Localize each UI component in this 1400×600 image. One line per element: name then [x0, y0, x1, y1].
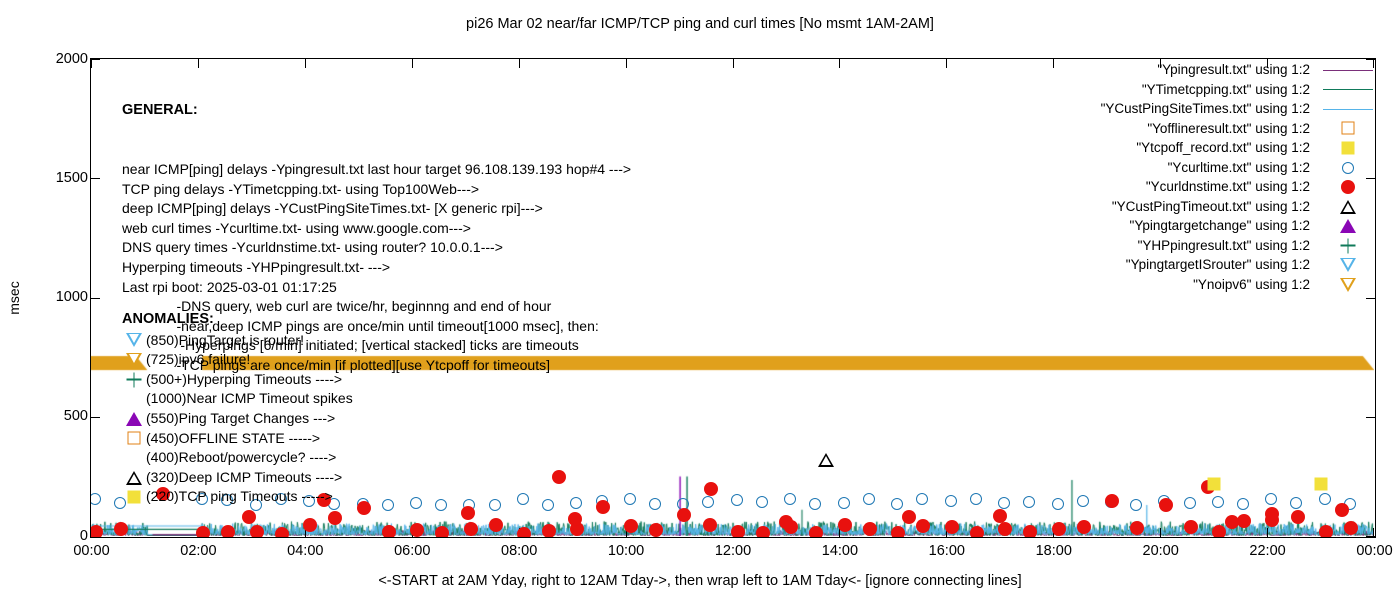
square-filled-marker-icon [1342, 141, 1355, 154]
circle-filled-marker-icon [221, 525, 235, 538]
legend-label: "Ycurldnstime.txt" using 1:2 [1146, 177, 1320, 197]
circle-open-marker-icon [1237, 498, 1249, 510]
square-open-marker-icon [1342, 122, 1355, 135]
circle-open-marker-icon [970, 493, 982, 505]
circle-open-marker-icon [731, 494, 743, 506]
circle-open-marker-icon [517, 493, 529, 505]
legend-label: "YTimetcpping.txt" using 1:2 [1142, 80, 1320, 100]
circle-filled-marker-icon [242, 510, 256, 524]
circle-open-marker-icon [1052, 498, 1064, 510]
circle-open-marker-icon [624, 493, 636, 505]
x-tick-label: 08:00 [501, 543, 537, 559]
y-tick-mark [91, 417, 100, 418]
x-tick-label: 22:00 [1249, 543, 1285, 559]
anomalies-annotation-block: ANOMALIES: (850)PingTarget is router!(72… [122, 310, 353, 507]
circle-filled-marker-icon [461, 506, 475, 520]
anomaly-marker [122, 370, 146, 390]
anomaly-marker [122, 350, 146, 370]
circle-filled-marker-icon [1105, 494, 1119, 508]
x-tick-label: 14:00 [822, 543, 858, 559]
legend-row: "Ynoipv6" using 1:2 [1101, 275, 1376, 295]
legend-key [1320, 275, 1376, 295]
circle-filled-marker-icon [1335, 503, 1349, 517]
legend-row: "YpingtargetISrouter" using 1:2 [1101, 255, 1376, 275]
circle-filled-marker-icon [275, 527, 289, 538]
y-tick-mark [91, 298, 100, 299]
anomaly-row: (400)Reboot/powercycle? ----> [122, 448, 353, 468]
x-tick-label: 00:00 [1356, 543, 1392, 559]
legend-label: "YCustPingSiteTimes.txt" using 1:2 [1101, 99, 1320, 119]
circle-filled-marker-icon [945, 520, 959, 534]
anomaly-label: (725)ipv6 failure! [146, 350, 250, 370]
legend-row: "YCustPingSiteTimes.txt" using 1:2 [1101, 99, 1376, 119]
anomaly-row: (725)ipv6 failure! [122, 350, 353, 370]
general-heading: GENERAL: [122, 101, 631, 121]
legend-row: "Yofflineresult.txt" using 1:2 [1101, 119, 1376, 139]
circle-filled-marker-icon [624, 519, 638, 533]
legend-key [1320, 80, 1376, 100]
circle-filled-marker-icon [382, 525, 396, 538]
triangle-up-open-marker-icon [818, 453, 834, 467]
anomaly-label: (400)Reboot/powercycle? ----> [146, 448, 336, 468]
general-line: Hyperping timeouts -YHPpingresult.txt- -… [122, 258, 631, 278]
legend-key [1320, 60, 1376, 80]
circle-filled-marker-icon [1265, 507, 1279, 521]
legend-label: "Yofflineresult.txt" using 1:2 [1147, 119, 1320, 139]
anomaly-row: (450)OFFLINE STATE -----> [122, 429, 353, 449]
y-tick-mark [1366, 417, 1375, 418]
circle-filled-marker-icon [998, 522, 1012, 536]
x-tick-label: 18:00 [1036, 543, 1072, 559]
anomaly-row: (550)Ping Target Changes ---> [122, 409, 353, 429]
x-tick-label: 02:00 [180, 543, 216, 559]
circle-filled-marker-icon [596, 500, 610, 514]
x-tick-mark [1373, 528, 1374, 537]
legend-key [1320, 197, 1376, 217]
y-tick-label: 2000 [0, 51, 88, 67]
circle-filled-marker-icon [1212, 525, 1226, 538]
legend-line-swatch [1323, 89, 1373, 90]
circle-filled-marker-icon [357, 501, 371, 515]
circle-open-marker-icon [1184, 497, 1196, 509]
circle-open-marker-icon [542, 499, 554, 511]
circle-open-marker-icon [891, 498, 903, 510]
anomaly-row: (220)TCP ping Timeouts -----> [122, 487, 353, 507]
anomaly-row: (500+)Hyperping Timeouts ----> [122, 370, 353, 390]
y-tick-mark [1366, 298, 1375, 299]
legend-row: "YTimetcpping.txt" using 1:2 [1101, 80, 1376, 100]
triangle-up-filled-marker-icon [1340, 219, 1356, 233]
circle-open-marker-icon [1212, 496, 1224, 508]
x-tick-label: 16:00 [929, 543, 965, 559]
circle-open-marker-icon [838, 497, 850, 509]
circle-open-marker-icon [756, 496, 768, 508]
legend-row: "Ypingtargetchange" using 1:2 [1101, 216, 1376, 236]
circle-filled-marker-icon [731, 525, 745, 538]
legend-key [1320, 255, 1376, 275]
circle-filled-marker-icon [1052, 522, 1066, 536]
legend-label: "Ynoipv6" using 1:2 [1193, 275, 1320, 295]
legend-label: "YHPpingresult.txt" using 1:2 [1138, 236, 1320, 256]
circle-open-marker-icon [945, 495, 957, 507]
legend-row: "Ycurltime.txt" using 1:2 [1101, 158, 1376, 178]
y-tick-mark [91, 178, 100, 179]
anomaly-label: (1000)Near ICMP Timeout spikes [146, 389, 353, 409]
legend-label: "Ypingresult.txt" using 1:2 [1157, 60, 1320, 80]
circle-open-marker-icon [784, 493, 796, 505]
legend-key [1320, 138, 1376, 158]
general-line: deep ICMP[ping] delays -YCustPingSiteTim… [122, 199, 631, 219]
general-line: web curl times -Ycurltime.txt- using www… [122, 219, 631, 239]
circle-filled-marker-icon [1130, 521, 1144, 535]
anomaly-label: (450)OFFLINE STATE -----> [146, 429, 320, 449]
x-tick-label: 04:00 [287, 543, 323, 559]
anomaly-marker [122, 468, 146, 488]
x-tick-label: 20:00 [1143, 543, 1179, 559]
x-tick-mark [946, 59, 947, 68]
legend-key [1320, 177, 1376, 197]
circle-filled-marker-icon [517, 527, 531, 538]
anomaly-marker [122, 487, 146, 507]
legend-label: "YpingtargetISrouter" using 1:2 [1126, 255, 1320, 275]
circle-filled-marker-icon [703, 518, 717, 532]
anomalies-heading: ANOMALIES: [122, 310, 353, 330]
y-tick-label: 500 [0, 408, 88, 424]
circle-filled-marker-icon [649, 523, 663, 537]
circle-filled-marker-icon [435, 526, 449, 538]
circle-filled-marker-icon [902, 510, 916, 524]
anomaly-label: (550)Ping Target Changes ---> [146, 409, 335, 429]
x-axis-caption: <-START at 2AM Yday, right to 12AM Tday-… [0, 573, 1400, 589]
circle-filled-marker-icon [542, 524, 556, 538]
circle-filled-marker-icon [756, 526, 770, 538]
x-tick-mark [733, 59, 734, 68]
circle-open-marker-icon [435, 499, 447, 511]
circle-filled-marker-icon [489, 518, 503, 532]
anomaly-marker [122, 448, 146, 468]
circle-open-marker-icon [863, 493, 875, 505]
anomaly-row: (1000)Near ICMP Timeout spikes [122, 389, 353, 409]
circle-filled-marker-icon [1319, 525, 1333, 538]
circle-open-marker-icon [1342, 162, 1354, 174]
square-open-marker-icon [128, 432, 141, 445]
circle-open-marker-icon [1077, 495, 1089, 507]
anomaly-marker [122, 409, 146, 429]
legend-line-swatch [1323, 109, 1373, 110]
circle-filled-marker-icon [1225, 515, 1239, 529]
circle-filled-marker-icon [1023, 525, 1037, 538]
y-tick-label: 0 [0, 528, 88, 544]
circle-open-marker-icon [702, 496, 714, 508]
circle-open-marker-icon [998, 497, 1010, 509]
circle-filled-marker-icon [1077, 520, 1091, 534]
circle-filled-marker-icon [863, 522, 877, 536]
circle-filled-marker-icon [916, 519, 930, 533]
circle-filled-marker-icon [328, 511, 342, 525]
plus-marker-icon [127, 372, 142, 387]
circle-filled-marker-icon [891, 526, 905, 538]
triangle-down-filled-marker-icon [126, 353, 142, 367]
legend-row: "Ytcpoff_record.txt" using 1:2 [1101, 138, 1376, 158]
circle-filled-marker-icon [970, 526, 984, 538]
x-tick-mark [1053, 59, 1054, 68]
circle-filled-marker-icon [677, 508, 691, 522]
x-tick-mark [1160, 528, 1161, 537]
x-tick-label: 10:00 [608, 543, 644, 559]
legend-line-swatch [1323, 70, 1373, 71]
anomaly-marker [122, 389, 146, 409]
anomaly-label: (220)TCP ping Timeouts -----> [146, 487, 333, 507]
circle-filled-marker-icon [90, 525, 103, 538]
circle-open-marker-icon [916, 493, 928, 505]
circle-open-marker-icon [1023, 496, 1035, 508]
general-line: near ICMP[ping] delays -Ypingresult.txt … [122, 160, 631, 180]
x-tick-mark [91, 59, 92, 68]
legend-label: "Ypingtargetchange" using 1:2 [1130, 216, 1320, 236]
square-filled-marker-icon [128, 491, 141, 504]
circle-filled-marker-icon [196, 526, 210, 538]
triangle-up-open-marker-icon [1340, 200, 1356, 214]
circle-open-marker-icon [489, 499, 501, 511]
legend-label: "Ytcpoff_record.txt" using 1:2 [1136, 138, 1320, 158]
circle-filled-marker-icon [993, 509, 1007, 523]
circle-filled-marker-icon [1341, 180, 1355, 194]
anomaly-row: (320)Deep ICMP Timeouts ----> [122, 468, 353, 488]
circle-open-marker-icon [649, 498, 661, 510]
circle-filled-marker-icon [809, 526, 823, 538]
legend-row: "YCustPingTimeout.txt" using 1:2 [1101, 197, 1376, 217]
circle-filled-marker-icon [704, 482, 718, 496]
anomalies-lines: (850)PingTarget is router!(725)ipv6 fail… [122, 331, 353, 507]
triangle-up-open-marker-icon [126, 471, 142, 485]
x-tick-label: 00:00 [73, 543, 109, 559]
legend-row: "YHPpingresult.txt" using 1:2 [1101, 236, 1376, 256]
circle-open-marker-icon [1290, 497, 1302, 509]
legend-key [1320, 158, 1376, 178]
triangle-up-filled-marker-icon [126, 412, 142, 426]
general-line: TCP ping delays -YTimetcpping.txt- using… [122, 180, 631, 200]
y-tick-mark [91, 59, 100, 60]
legend-key [1320, 99, 1376, 119]
circle-filled-marker-icon [568, 512, 582, 526]
chart-legend: "Ypingresult.txt" using 1:2"YTimetcpping… [1101, 60, 1376, 295]
triangle-down-open-marker-icon [126, 333, 142, 347]
y-tick-label: 1000 [0, 289, 88, 305]
x-tick-label: 12:00 [715, 543, 751, 559]
circle-open-marker-icon [1265, 493, 1277, 505]
circle-filled-marker-icon [303, 518, 317, 532]
y-tick-label: 1500 [0, 170, 88, 186]
circle-filled-marker-icon [1344, 521, 1358, 535]
legend-key [1320, 216, 1376, 236]
legend-key [1320, 236, 1376, 256]
circle-filled-marker-icon [838, 518, 852, 532]
general-line: Last rpi boot: 2025-03-01 01:17:25 [122, 278, 631, 298]
legend-label: "YCustPingTimeout.txt" using 1:2 [1112, 197, 1320, 217]
circle-filled-marker-icon [250, 525, 264, 538]
circle-open-marker-icon [410, 497, 422, 509]
legend-row: "Ycurldnstime.txt" using 1:2 [1101, 177, 1376, 197]
x-tick-mark [839, 59, 840, 68]
chart-page: pi26 Mar 02 near/far ICMP/TCP ping and c… [0, 0, 1400, 600]
circle-filled-marker-icon [1291, 510, 1305, 524]
square-filled-marker-icon [1207, 477, 1220, 490]
circle-filled-marker-icon [114, 522, 128, 536]
anomaly-label: (850)PingTarget is router! [146, 331, 304, 351]
legend-label: "Ycurltime.txt" using 1:2 [1168, 158, 1320, 178]
anomaly-marker [122, 429, 146, 449]
circle-open-marker-icon [382, 499, 394, 511]
anomaly-row: (850)PingTarget is router! [122, 331, 353, 351]
legend-key [1320, 119, 1376, 139]
x-tick-mark [1267, 528, 1268, 537]
anomaly-label: (500+)Hyperping Timeouts ----> [146, 370, 342, 390]
circle-filled-marker-icon [464, 522, 478, 536]
circle-open-marker-icon [1319, 493, 1331, 505]
circle-filled-marker-icon [410, 523, 424, 537]
anomaly-label: (320)Deep ICMP Timeouts ----> [146, 468, 342, 488]
circle-open-marker-icon [1130, 499, 1142, 511]
plus-marker-icon [1341, 238, 1356, 253]
triangle-down-filled-marker-icon [1340, 278, 1356, 292]
circle-filled-marker-icon [1159, 498, 1173, 512]
circle-open-marker-icon [90, 493, 101, 505]
square-filled-marker-icon [1314, 477, 1327, 490]
chart-title: pi26 Mar 02 near/far ICMP/TCP ping and c… [0, 16, 1400, 32]
x-tick-label: 06:00 [394, 543, 430, 559]
triangle-down-open-marker-icon [1340, 258, 1356, 272]
legend-row: "Ypingresult.txt" using 1:2 [1101, 60, 1376, 80]
circle-filled-marker-icon [779, 515, 793, 529]
circle-filled-marker-icon [1184, 520, 1198, 534]
circle-filled-marker-icon [552, 470, 566, 484]
general-line: DNS query times -Ycurldnstime.txt- using… [122, 238, 631, 258]
circle-open-marker-icon [570, 497, 582, 509]
anomaly-marker [122, 331, 146, 351]
circle-open-marker-icon [809, 498, 821, 510]
